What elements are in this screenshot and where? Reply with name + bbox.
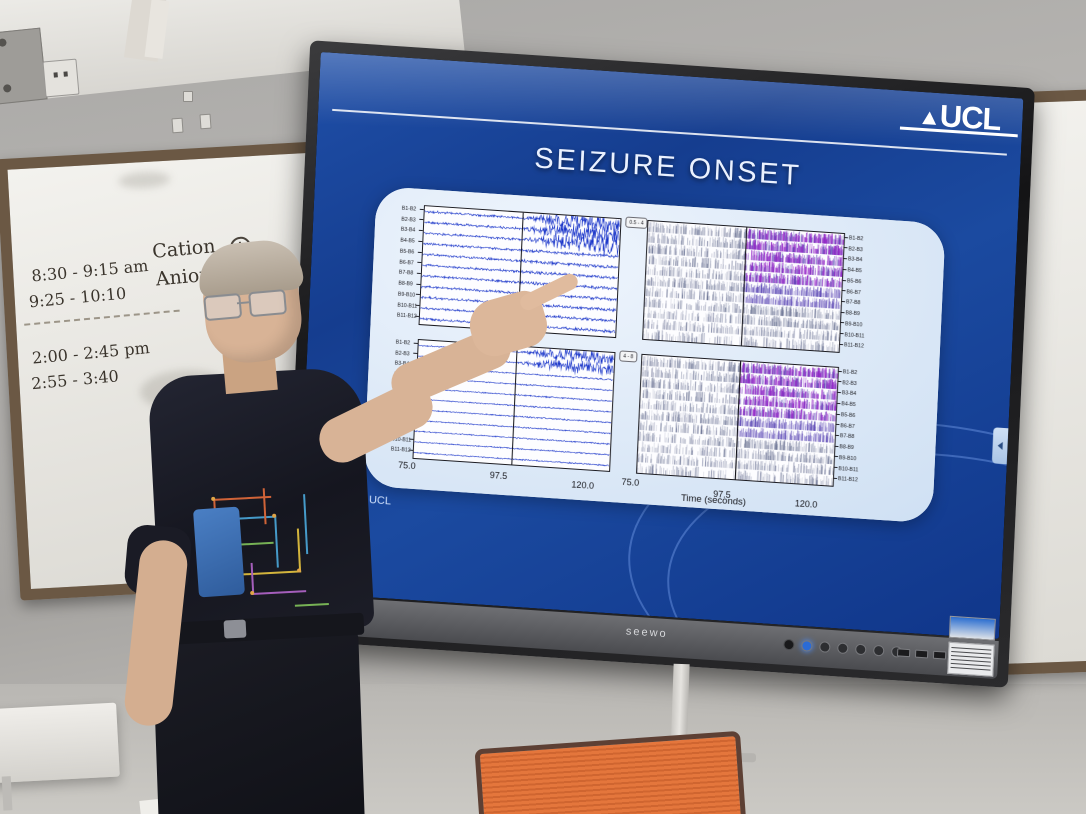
channel-tick	[419, 219, 423, 220]
channel-tick	[842, 280, 846, 281]
xtick-left-mid: 97.5	[490, 470, 508, 481]
channel-tick	[419, 230, 423, 231]
volume-down-button[interactable]	[855, 644, 866, 656]
wall-fixture	[183, 91, 193, 102]
channel-label: B7-B8	[840, 434, 855, 440]
channel-label: B8-B9	[845, 311, 860, 317]
channel-tick	[843, 247, 847, 248]
channel-tick	[837, 381, 841, 382]
channel-label: B9-B10	[839, 456, 857, 462]
channel-tick	[841, 301, 845, 302]
whiteboard-line-4: 2:55 - 3:40	[31, 366, 120, 393]
channel-tick	[836, 413, 840, 414]
display-port-row[interactable]	[897, 648, 946, 659]
channel-label: B6-B7	[846, 290, 861, 296]
hdmi-port[interactable]	[933, 651, 946, 660]
channel-label: B3-B4	[848, 258, 863, 264]
channel-tick	[841, 312, 845, 313]
belt-buckle	[224, 619, 247, 638]
channel-tick	[840, 322, 844, 323]
channel-tick	[834, 456, 838, 457]
volume-up-button[interactable]	[873, 645, 884, 657]
desk-leg	[2, 776, 13, 810]
channel-tick	[839, 344, 843, 345]
display-button-row[interactable]	[783, 639, 902, 658]
channel-label: B4-B5	[841, 402, 856, 408]
channel-label: B5-B6	[841, 413, 856, 419]
channel-label: B2-B3	[848, 247, 863, 253]
channel-label: B9-B10	[845, 322, 863, 328]
band-label-theta-left: 4 - 8	[619, 350, 637, 362]
channel-label: B8-B9	[839, 445, 854, 451]
side-desk	[0, 703, 120, 784]
power-button[interactable]	[801, 640, 812, 652]
channel-label: B3-B4	[401, 228, 416, 234]
xtick-right-min: 75.0	[621, 477, 639, 488]
display-badge-sticker	[949, 616, 996, 641]
channel-label: B1-B2	[843, 370, 858, 376]
channel-label: B2-B3	[401, 217, 416, 223]
channel-tick	[838, 371, 842, 372]
channel-label: B7-B8	[846, 301, 861, 307]
channel-tick	[835, 435, 839, 436]
blue-object	[193, 507, 245, 598]
channel-tick	[835, 424, 839, 425]
wall-socket-a	[171, 118, 183, 134]
channel-tick	[833, 467, 837, 468]
ir-sensor-icon	[783, 639, 794, 651]
wall-mount-bracket	[0, 28, 48, 105]
ucl-triangle-icon	[922, 111, 937, 125]
channel-tick	[834, 446, 838, 447]
channel-label: B5-B6	[847, 279, 862, 285]
channel-label: B6-B7	[840, 424, 855, 430]
channel-tick	[837, 392, 841, 393]
whiteboard-line-2: 9:25 - 10:10	[28, 284, 127, 312]
xtick-right-max: 120.0	[795, 498, 818, 509]
channel-tick	[840, 333, 844, 334]
panel-bottom-right-raster	[636, 354, 839, 487]
wall-socket-b	[199, 114, 211, 130]
band-label-delta-left: 0.5 - 4	[625, 216, 648, 228]
channel-tick	[843, 258, 847, 259]
wall-socket-left	[42, 59, 79, 98]
xtick-left-max: 120.0	[571, 479, 594, 490]
chevron-left-icon[interactable]	[992, 427, 1009, 464]
source-button[interactable]	[837, 642, 848, 654]
display-brand-label: seewo	[626, 625, 668, 640]
menu-button[interactable]	[819, 641, 830, 653]
channel-label: B4-B5	[847, 268, 862, 274]
classroom-scene: 8:30 - 9:15 am 9:25 - 10:10 2:00 - 2:45 …	[0, 0, 1086, 814]
presenter-legs	[152, 628, 366, 814]
channel-tick	[841, 290, 845, 291]
channel-tick	[420, 208, 424, 209]
channel-tick	[844, 237, 848, 238]
display-spec-sticker	[947, 642, 994, 677]
usb-port-1[interactable]	[897, 648, 910, 657]
channel-label: B1-B2	[849, 236, 864, 242]
usb-port-2[interactable]	[915, 650, 928, 659]
panel-top-right-raster	[642, 220, 845, 353]
channel-tick	[836, 403, 840, 404]
presenter	[120, 240, 450, 814]
channel-tick	[842, 269, 846, 270]
channel-label: B1-B2	[402, 207, 417, 213]
channel-tick	[833, 478, 837, 479]
channel-label: B3-B4	[842, 392, 857, 398]
channel-label: B2-B3	[842, 381, 857, 387]
